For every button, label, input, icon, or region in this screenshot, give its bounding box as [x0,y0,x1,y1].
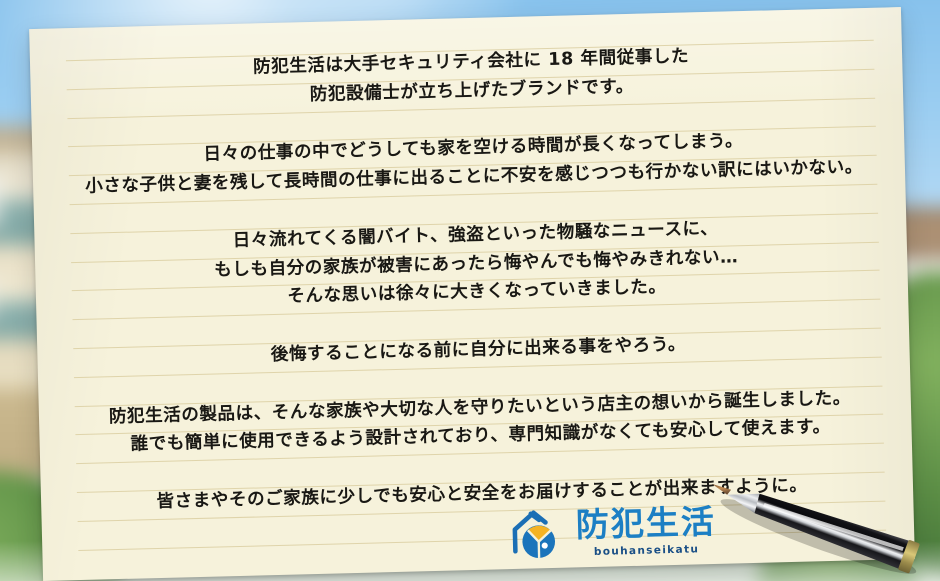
brand-logo: 防犯生活 bouhanseikatu [503,501,716,564]
letter-sheet: 防犯生活は大手セキュリティ会社に 18 年間従事した防犯設備士が立ち上げたブラン… [29,7,915,581]
logo-romanization: bouhanseikatu [594,544,700,557]
logo-text-block: 防犯生活 bouhanseikatu [575,505,716,558]
letter-scene: 防犯生活は大手セキュリティ会社に 18 年間従事した防犯設備士が立ち上げたブラン… [0,0,940,581]
house-camera-shield-icon [503,505,562,564]
logo-wordmark: 防犯生活 [575,505,716,543]
letter-text: 防犯生活は大手セキュリティ会社に 18 年間従事した防犯設備士が立ち上げたブラン… [70,38,884,562]
